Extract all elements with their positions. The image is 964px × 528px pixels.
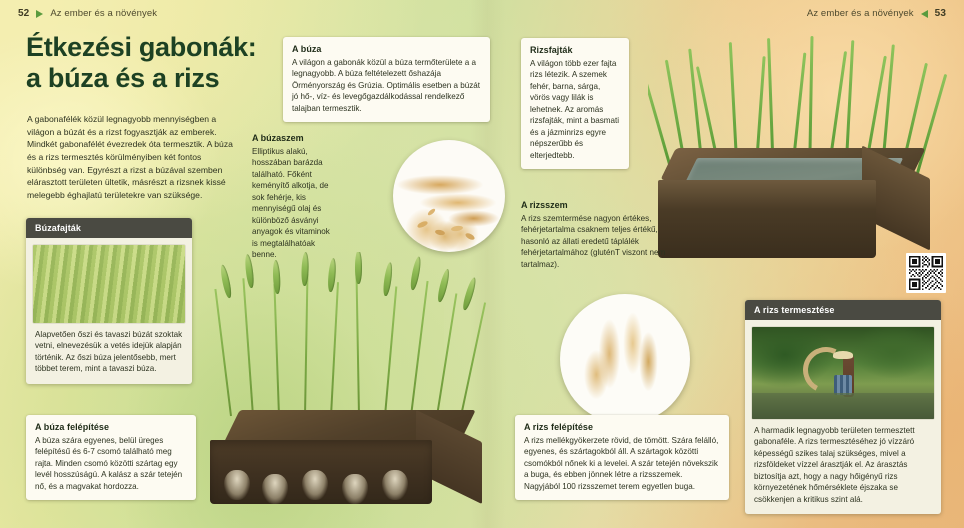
card-rizsszem-title: A rizsszem [521,200,669,210]
panel-buzafajtak-caption: Alapvetően őszi és tavaszi búzát szoktak… [33,329,185,377]
card-a-buza-title: A búza [292,44,481,54]
card-a-buzaszem-body: Elliptikus alakú, hosszában barázda talá… [252,146,330,261]
wheat-root-mass [302,470,328,500]
paddy-soil-front [658,180,876,258]
panel-buzafajtak-title: Búzafajták [26,218,192,238]
panel-rizs-termesztese-title: A rizs termesztése [745,300,941,320]
triangle-right-icon [36,10,43,18]
card-rizs-felepitese: A rizs felépítése A rizs mellékgyökerzet… [515,415,729,500]
soil-front-face [210,440,432,504]
page-title-line-1: Étkezési gabonák: [26,32,256,62]
panel-rizs-termesztese-body: A harmadik legnagyobb területen termeszt… [745,320,941,514]
textbook-spread: 52 Az ember és a növények Az ember és a … [0,0,964,528]
farmer-sarong [834,375,852,395]
runhead-right: Az ember és a növények 53 [807,8,946,19]
card-buza-felepitese-body: A búza szára egyenes, belül üreges felép… [35,435,187,492]
panel-rizs-termesztese-caption: A harmadik legnagyobb területen termeszt… [752,425,934,507]
page-number-left: 52 [18,8,29,19]
card-rizs-felepitese-title: A rizs felépítése [524,422,720,432]
card-rizsfajtak-body: A világon több ezer fajta rizs létezik. … [530,58,620,161]
intro-paragraph: A gabonafélék közül legnagyobb mennyiség… [27,113,239,201]
card-rizsfajtak-title: Rizsfajták [530,45,620,55]
wheat-plants-canopy [212,252,480,427]
card-rizsszem: A rizsszem A rizs szemtermése nagyon ért… [521,200,669,270]
runhead-left: 52 Az ember és a növények [18,8,157,19]
wheat-root-mass [342,474,368,504]
wheat-root-mass [224,470,250,500]
triangle-left-icon [921,10,928,18]
card-buza-felepitese-title: A búza felépítése [35,422,187,432]
wheat-root-mass [262,474,288,504]
wheat-root-mass [382,470,408,500]
rice-paddy-farmer-photo [752,327,934,419]
page-number-right: 53 [935,8,946,19]
wheat-ears-and-grains-circular-photo [393,140,505,252]
wheat-field-photo [33,245,185,323]
section-title-right: Az ember és a növények [807,8,914,19]
card-rizsszem-body: A rizs szemtermése nagyon értékes, fehér… [521,213,669,270]
conical-hat-icon [833,351,853,359]
card-buza-felepitese: A búza felépítése A búza szára egyenes, … [26,415,196,500]
card-rizs-felepitese-body: A rizs mellékgyökerzete rövid, de tömött… [524,435,720,492]
wheat-soil-block [204,410,488,510]
panel-rizs-termesztese: A rizs termesztése A harmadik legnagyobb… [745,300,941,514]
page-title-line-2: a búza és a rizs [26,63,296,94]
qr-code[interactable] [906,253,946,293]
card-a-buzaszem-title: A búzaszem [252,133,330,143]
card-a-buzaszem: A búzaszem Elliptikus alakú, hosszában b… [252,133,330,261]
rice-panicles-circular-photo [560,294,690,424]
page-title: Étkezési gabonák: a búza és a rizs [26,32,296,95]
card-a-buza: A búza A világon a gabonák közül a búza … [283,37,490,122]
paddy-water-surface [752,393,934,419]
section-title-left: Az ember és a növények [50,8,157,19]
qr-code-icon [909,256,943,290]
panel-buzafajtak-body: Alapvetően őszi és tavaszi búzát szoktak… [26,238,192,384]
card-a-buza-body: A világon a gabonák közül a búza termőte… [292,57,481,114]
panel-buzafajtak: Búzafajták Alapvetően őszi és tavaszi bú… [26,218,192,384]
card-rizsfajtak: Rizsfajták A világon több ezer fajta riz… [521,38,629,169]
flooded-rice-paddy-cross-section-illustration [648,30,948,292]
wheat-soil-cross-section-illustration [196,252,496,510]
